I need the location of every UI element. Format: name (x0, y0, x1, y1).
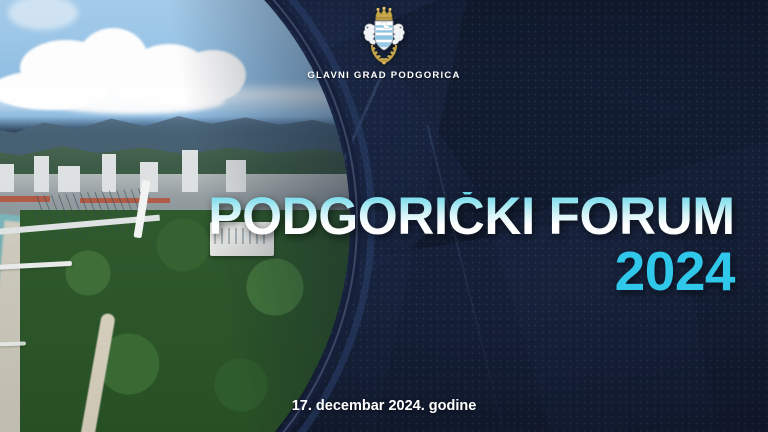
event-title: PODGORIČKI FORUM (209, 192, 735, 242)
city-logo-block: GLAVNI GRAD PODGORICA (0, 6, 768, 81)
podgorica-coat-of-arms-icon (355, 6, 413, 66)
event-date: 17. decembar 2024. godine (0, 398, 768, 414)
city-logo-caption: GLAVNI GRAD PODGORICA (307, 70, 460, 81)
event-title-block: PODGORIČKI FORUM 2024 (192, 192, 735, 299)
event-year: 2024 (192, 244, 735, 299)
poster-canvas: GLAVNI GRAD PODGORICA PODGORIČKI FORUM 2… (0, 0, 768, 432)
